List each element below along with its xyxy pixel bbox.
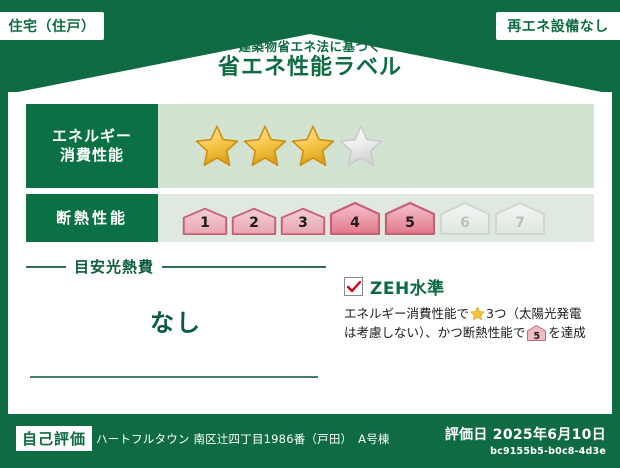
utility-cost-block: 目安光熱費 なし — [26, 252, 326, 400]
cost-rule-right — [162, 266, 326, 268]
insulation-level-2: 2 — [231, 207, 277, 235]
insulation-level-4: 4 — [329, 201, 381, 235]
zeh-title: ZEH水準 — [370, 274, 445, 299]
insulation-label: 断熱性能 — [56, 209, 128, 228]
energy-performance-row: エネルギー 消費性能 — [26, 104, 594, 188]
insulation-level-5: 5 — [384, 201, 436, 235]
insulation-level-number: 3 — [280, 215, 326, 231]
label-card: エネルギー 消費性能 断熱性能 1234567 目安光熱費 — [8, 92, 612, 414]
check-icon — [347, 281, 361, 293]
cost-rule-left — [26, 266, 66, 268]
star-empty-icon — [338, 124, 384, 168]
zeh-desc-part1: エネルギー消費性能で — [344, 306, 469, 321]
zeh-desc-part2: は考慮しない）、かつ断熱性能で — [344, 325, 525, 340]
inline-house-icon: 5 — [527, 325, 546, 341]
star-filled-icon — [290, 124, 336, 168]
inline-star-icon — [470, 306, 485, 321]
energy-label-line1: エネルギー — [52, 127, 132, 146]
star-rating — [194, 124, 384, 168]
utility-cost-title: 目安光熱費 — [74, 256, 154, 277]
energy-label-line2: 消費性能 — [60, 146, 124, 165]
cost-divider-bottom — [30, 376, 318, 378]
insulation-level-3: 3 — [280, 207, 326, 235]
utility-cost-header: 目安光熱費 — [26, 252, 326, 277]
evaluation-id: bc9155b5-b0c8-4d3e — [445, 446, 606, 457]
insulation-level-1: 1 — [182, 207, 228, 235]
star-filled-icon — [194, 124, 240, 168]
evaluation-info: 評価日 2025年6月10日 bc9155b5-b0c8-4d3e — [445, 424, 606, 457]
utility-cost-value: なし — [26, 303, 326, 338]
property-address: ハートフルタウン 南区辻四丁目1986番（戸田） A号棟 — [96, 431, 390, 447]
self-evaluation-badge: 自己評価 — [16, 426, 92, 451]
insulation-levels-area: 1234567 — [158, 194, 594, 242]
lower-section: 目安光熱費 なし ZEH水準 エネルギー消費性能で — [26, 252, 594, 400]
insulation-level-number: 1 — [182, 215, 228, 231]
insulation-level-scale: 1234567 — [182, 201, 546, 235]
insulation-level-6: 6 — [439, 201, 491, 235]
zeh-desc-stars: 3つ（太陽光発電 — [486, 306, 581, 321]
inline-house-number: 5 — [527, 332, 546, 342]
zeh-description: エネルギー消費性能で 3つ（太陽光発電 は考慮しない）、かつ断熱性能で 5 を達… — [344, 304, 594, 343]
insulation-level-7: 7 — [494, 201, 546, 235]
roof-shape — [8, 34, 612, 94]
energy-stars-area — [158, 104, 594, 188]
evaluation-date: 評価日 2025年6月10日 — [445, 424, 606, 444]
insulation-level-number: 5 — [384, 215, 436, 231]
energy-performance-label-block: エネルギー 消費性能 — [26, 104, 158, 188]
building-type-tag: 住宅（住戸） — [0, 12, 104, 40]
zeh-block: ZEH水準 エネルギー消費性能で 3つ（太陽光発電 は考慮しない）、かつ断熱性能… — [326, 252, 594, 400]
insulation-level-number: 2 — [231, 215, 277, 231]
insulation-level-number: 6 — [439, 215, 491, 231]
insulation-performance-row: 断熱性能 1234567 — [26, 194, 594, 242]
zeh-checkbox[interactable] — [344, 277, 363, 296]
insulation-level-number: 7 — [494, 215, 546, 231]
insulation-performance-label-block: 断熱性能 — [26, 194, 158, 242]
renewable-energy-tag: 再エネ設備なし — [496, 12, 620, 40]
label-footer: 自己評価 ハートフルタウン 南区辻四丁目1986番（戸田） A号棟 評価日 20… — [0, 414, 620, 468]
insulation-level-number: 4 — [329, 215, 381, 231]
star-filled-icon — [242, 124, 288, 168]
energy-performance-label: 住宅（住戸） 再エネ設備なし 建築物省エネ法に基づく 省エネ性能ラベル エネルギ… — [0, 0, 620, 468]
zeh-desc-part3: を達成 — [548, 325, 586, 340]
zeh-header: ZEH水準 — [344, 274, 594, 299]
